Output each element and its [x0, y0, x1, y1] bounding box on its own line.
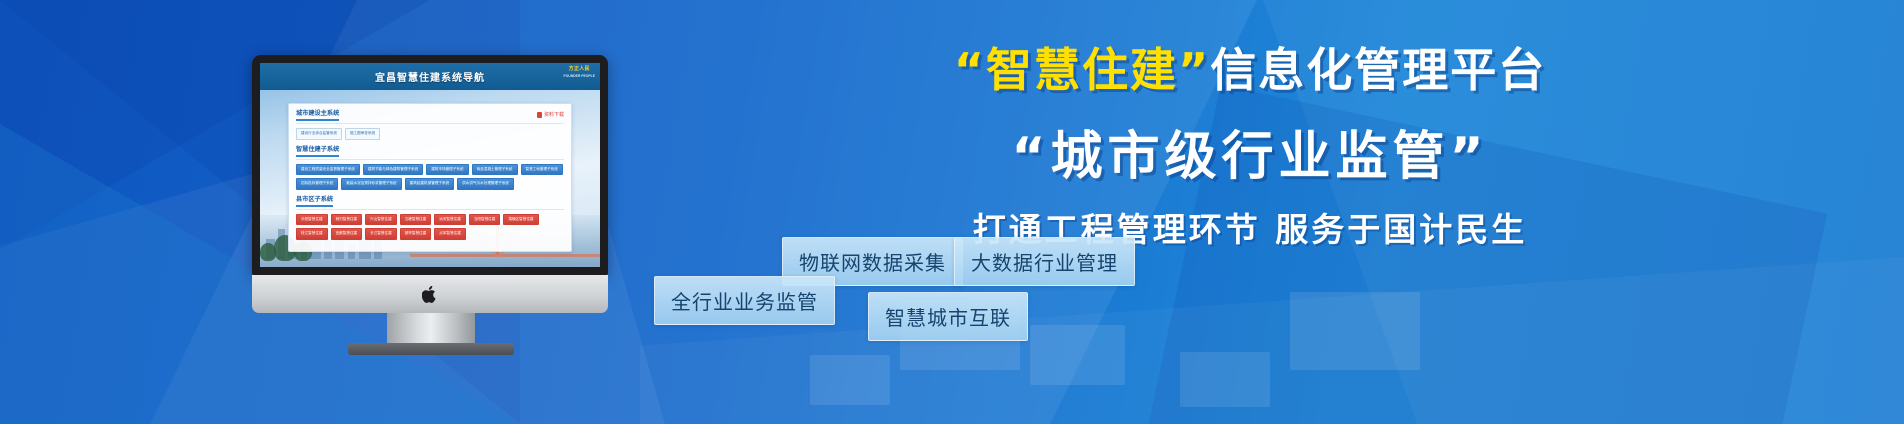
county-button[interactable]: 枝江智慧住建 [296, 228, 328, 240]
apple-logo-icon [422, 285, 438, 304]
system-button[interactable]: 招标投标管理子系统 [296, 178, 338, 190]
system-button[interactable]: 供水供气污水处理管理子系统 [457, 178, 514, 190]
system-button[interactable]: 商品混凝土管理子系统 [472, 164, 518, 176]
county-button[interactable]: 点军智慧住建 [434, 228, 466, 240]
headline-line-2: “城市级行业监管” [660, 114, 1840, 189]
screen-logo-line1: 方正人民 [564, 66, 595, 74]
screen-logo-line2: FOUNDER PEOPLE [564, 74, 595, 79]
section-button-row: 长阳智慧住建 秭归智慧住建 兴山智慧住建 五峰智慧住建 远安智慧住建 当阳智慧住… [296, 214, 564, 240]
system-button[interactable]: 智慧工地管理子系统 [521, 164, 563, 176]
download-label: 资料下载 [544, 111, 564, 118]
monitor-bezel: 宜昌智慧住建系统导航 方正人民 FOUNDER PEOPLE 城市建设主系统 资… [252, 55, 608, 275]
county-button[interactable]: 长阳智慧住建 [296, 214, 328, 226]
headline-rest: 信息化管理平台 [1210, 43, 1546, 97]
system-button[interactable]: 建筑节能与绿色建筑管理子系统 [363, 164, 423, 176]
county-button[interactable]: 夷陵区智慧住建 [503, 214, 538, 226]
decorative-square [1180, 352, 1270, 407]
decorative-square [1290, 292, 1420, 370]
county-button[interactable]: 五峰智慧住建 [400, 214, 432, 226]
section-button-row: 建设工程质量安全监督管理子系统 建筑节能与绿色建筑管理子系统 建筑市场管理子系统… [296, 164, 564, 190]
county-button[interactable]: 长江智慧住建 [365, 228, 397, 240]
screen-header: 宜昌智慧住建系统导航 方正人民 FOUNDER PEOPLE [260, 63, 600, 90]
system-button[interactable]: 建设行业综合监管系统 [296, 128, 342, 140]
system-button[interactable]: 建筑市场管理子系统 [426, 164, 468, 176]
screen-content-panel: 城市建设主系统 资料下载 建设行业综合监管系统 施工图审查系统 智慧住建子系统 [288, 103, 572, 252]
screen-title: 宜昌智慧住建系统导航 [375, 69, 485, 84]
system-button[interactable]: 施工图审查系统 [345, 128, 380, 140]
headline-line-1: “智慧住建”信息化管理平台 [660, 34, 1840, 100]
system-button[interactable]: 建筑起重机械管理子系统 [405, 178, 455, 190]
system-button[interactable]: 建设工程质量安全监督管理子系统 [296, 164, 360, 176]
download-icon [537, 112, 542, 118]
section-title-sub: 智慧住建子系统 [296, 144, 339, 157]
system-button[interactable]: 散装水泥及预拌砂浆管理子系统 [341, 178, 401, 190]
monitor-chin [252, 275, 608, 313]
screen-section-header: 智慧住建子系统 [296, 144, 564, 160]
screen-logo: 方正人民 FOUNDER PEOPLE [564, 66, 595, 79]
feature-tag-bigdata[interactable]: 大数据行业管理 [954, 237, 1135, 286]
download-link[interactable]: 资料下载 [537, 111, 564, 118]
section-button-row: 建设行业综合监管系统 施工图审查系统 [296, 128, 564, 140]
headline-block: “智慧住建”信息化管理平台 “城市级行业监管” 打通工程管理环节 服务于国计民生 [660, 34, 1840, 251]
decorative-square [810, 355, 890, 405]
headline-highlight: “智慧住建” [954, 43, 1210, 97]
county-button[interactable]: 秭归智慧住建 [331, 214, 363, 226]
decorative-square [1030, 325, 1125, 385]
county-button[interactable]: 兴山智慧住建 [365, 214, 397, 226]
feature-tag-supervision[interactable]: 全行业业务监管 [654, 276, 835, 325]
county-button[interactable]: 宜都智慧住建 [331, 228, 363, 240]
section-title-county: 县市区子系统 [296, 194, 333, 207]
imac-device: 宜昌智慧住建系统导航 方正人民 FOUNDER PEOPLE 城市建设主系统 资… [252, 55, 612, 355]
county-button[interactable]: 猇亭智慧住建 [400, 228, 432, 240]
screen-section-header: 县市区子系统 [296, 194, 564, 210]
county-button[interactable]: 当阳智慧住建 [469, 214, 501, 226]
monitor-screen: 宜昌智慧住建系统导航 方正人民 FOUNDER PEOPLE 城市建设主系统 资… [260, 63, 600, 267]
section-title-main: 城市建设主系统 [296, 108, 339, 121]
monitor-stand-base [348, 343, 514, 355]
screen-section-header: 城市建设主系统 资料下载 [296, 108, 564, 124]
feature-tag-smartcity[interactable]: 智慧城市互联 [868, 292, 1028, 341]
county-button[interactable]: 远安智慧住建 [434, 214, 466, 226]
bridge-deck [410, 254, 600, 257]
promo-banner: 宜昌智慧住建系统导航 方正人民 FOUNDER PEOPLE 城市建设主系统 资… [0, 0, 1904, 424]
